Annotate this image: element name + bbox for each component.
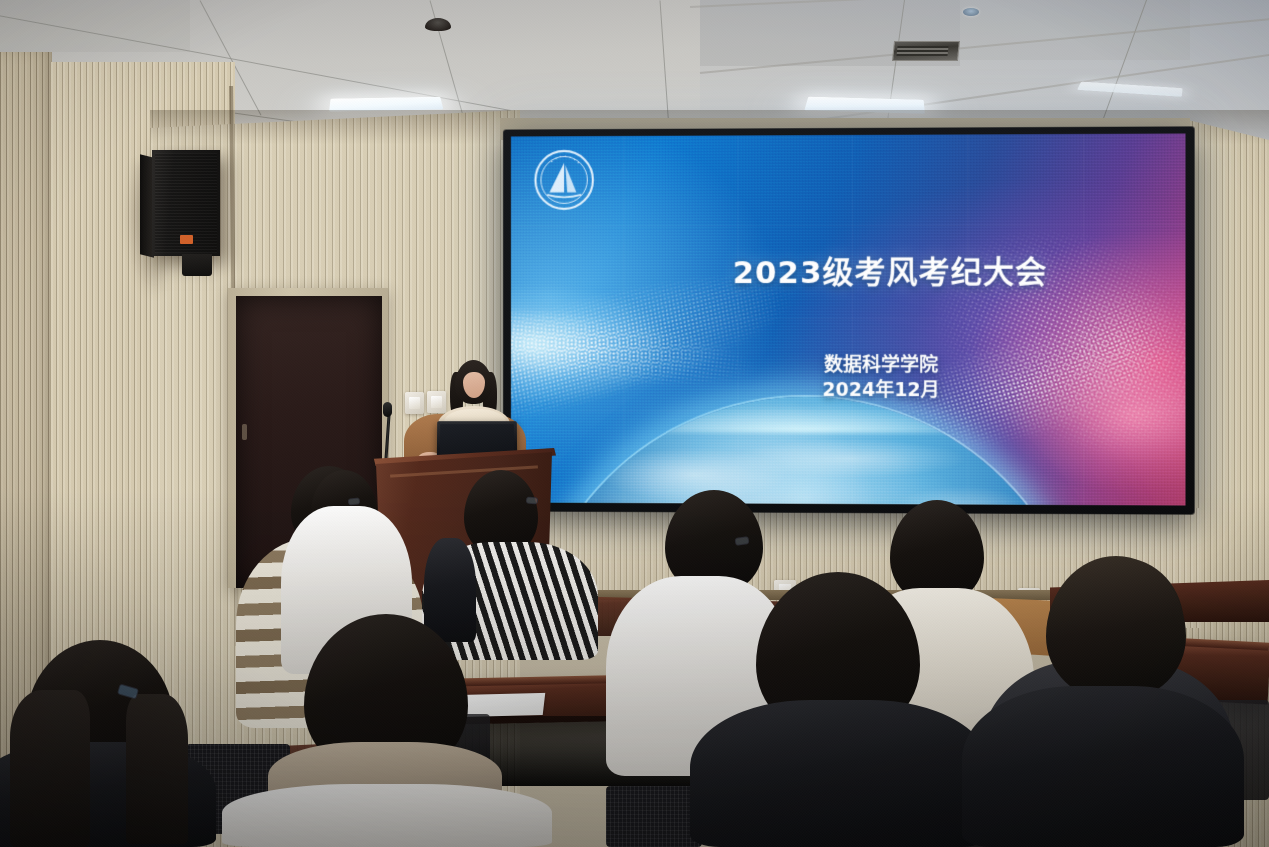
chair-back[interactable] — [606, 786, 702, 847]
conference-room-photo: 2023级考风考纪大会 数据科学学院 2024年12月 — [0, 0, 1269, 847]
jbl-wall-speaker — [152, 150, 220, 256]
light-switch-plate[interactable] — [427, 391, 446, 413]
presentation-slide: 2023级考风考纪大会 数据科学学院 2024年12月 — [511, 133, 1186, 505]
slide-subtitle: 数据科学学院 2024年12月 — [511, 353, 1186, 403]
zebra-jacket-shoulder — [424, 538, 476, 642]
hvac-vent — [892, 41, 960, 61]
eyeglasses-icon — [348, 497, 361, 505]
slide-title: 2023级考风考纪大会 — [511, 247, 1186, 293]
eyeglasses-icon — [526, 497, 538, 505]
door-handle[interactable] — [242, 424, 247, 440]
student-long-hair — [10, 690, 90, 847]
earth-graphic — [528, 396, 1087, 505]
smoke-detector-icon — [425, 18, 451, 31]
ceiling-light-panel — [329, 97, 443, 112]
slide-org-line: 数据科学学院 — [581, 353, 1186, 378]
slide-date-line: 2024年12月 — [581, 377, 1186, 402]
led-video-wall[interactable]: 2023级考风考纪大会 数据科学学院 2024年12月 — [503, 126, 1195, 514]
beige-collar-student — [222, 784, 552, 847]
sprinkler-head-icon — [963, 8, 979, 16]
dark-jacket-student-right — [962, 686, 1244, 847]
dark-hoodie-student-center — [690, 700, 990, 847]
microphone-icon — [383, 402, 392, 417]
student-long-hair — [126, 694, 188, 844]
jbl-logo-badge — [180, 235, 193, 244]
university-sail-emblem-icon — [534, 149, 595, 211]
light-switch-plate[interactable] — [405, 392, 424, 414]
speaker-mount-bracket — [182, 254, 212, 276]
